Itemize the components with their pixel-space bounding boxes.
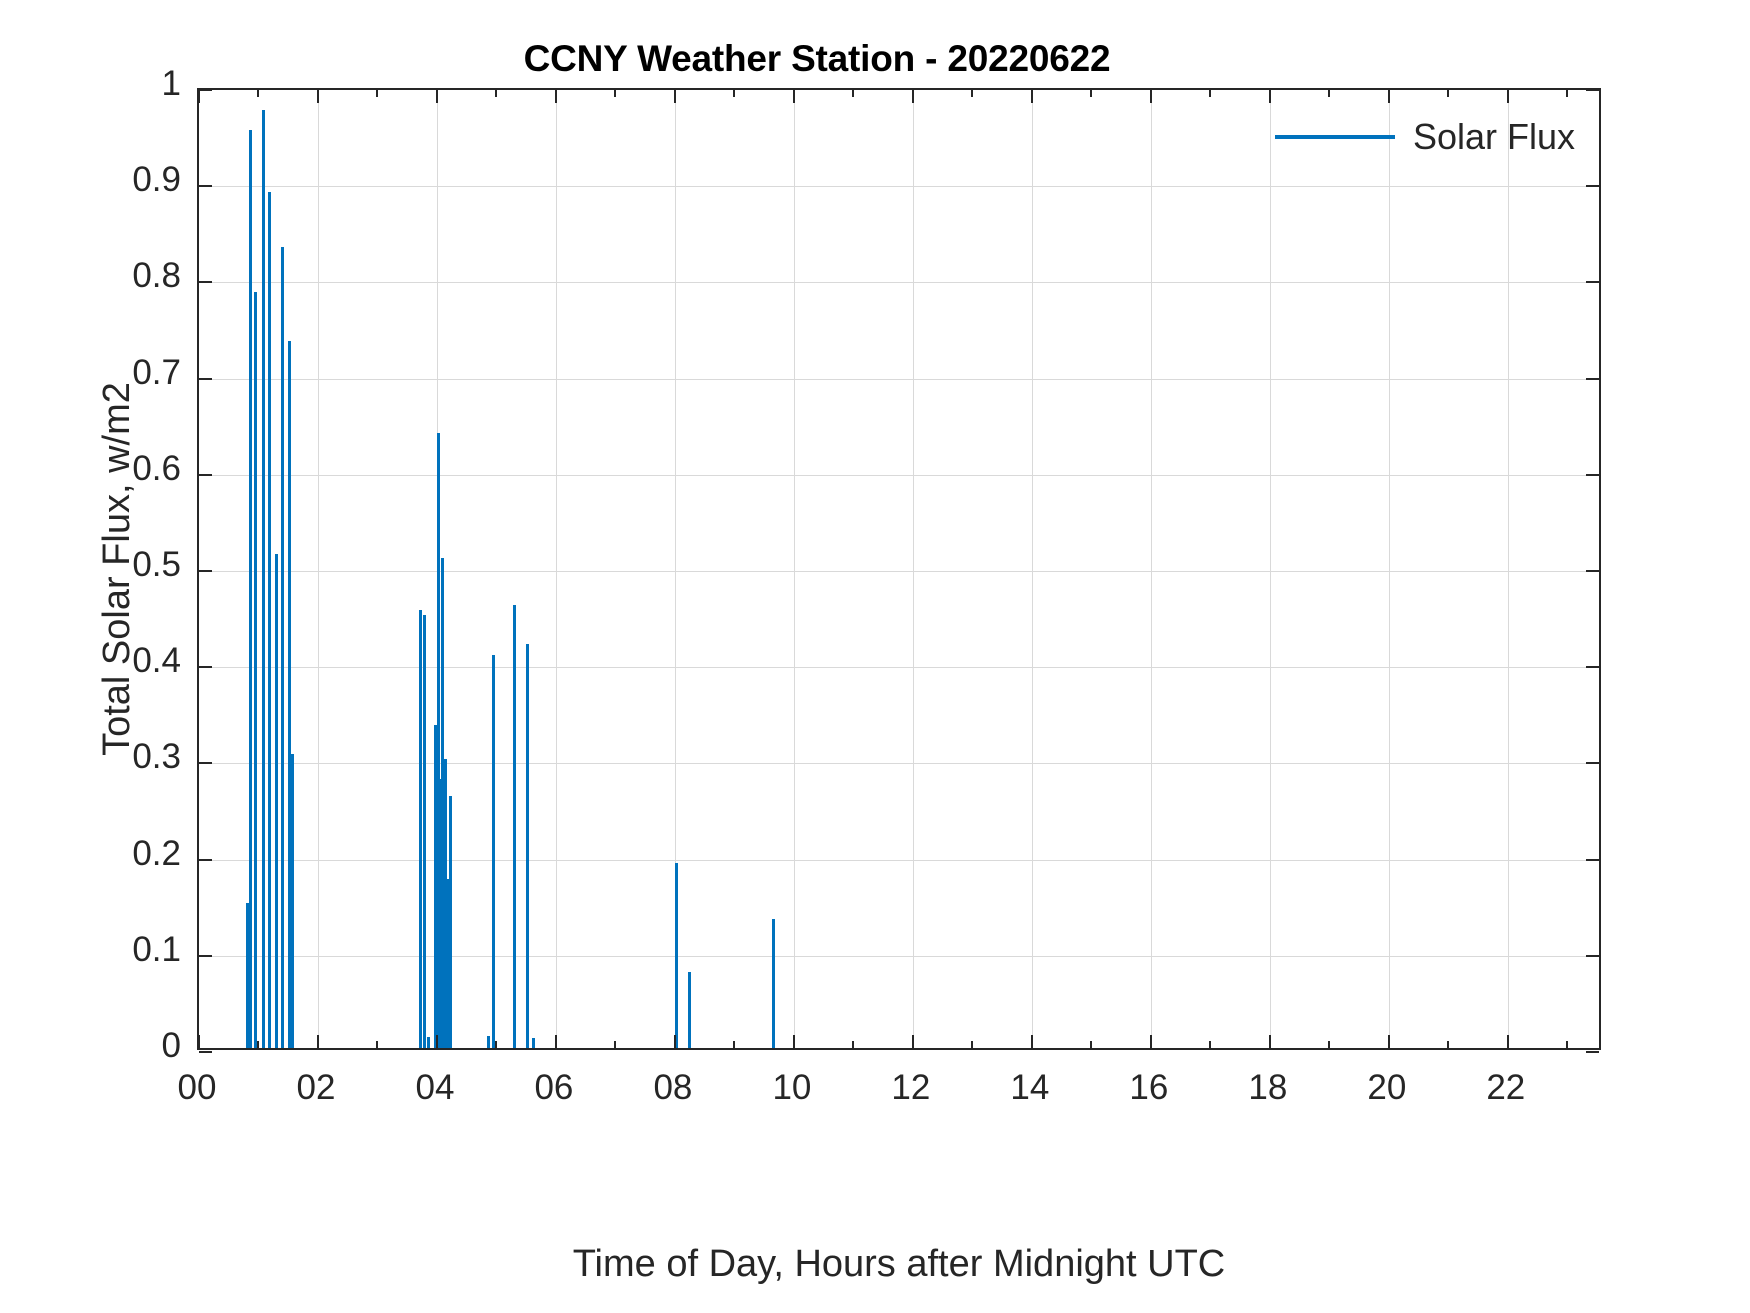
y-tick-mark-right [1586, 378, 1599, 380]
plot-axes: Solar Flux [197, 88, 1601, 1050]
plot-area [199, 90, 1599, 1048]
x-tick-minor [1566, 1041, 1568, 1048]
gridline-vertical [1151, 90, 1152, 1048]
chart-title-text: CCNY Weather Station - 20220622 [524, 38, 1111, 80]
x-tick-mark [1388, 1035, 1390, 1048]
data-spike [427, 1037, 430, 1048]
x-tick-minor-top [495, 90, 497, 97]
y-tick-mark-right [1586, 762, 1599, 764]
y-tick-label: 0.2 [132, 834, 181, 874]
chart-title: CCNY Weather Station - 20220622 [0, 38, 1750, 80]
x-tick-minor-top [1328, 90, 1330, 97]
x-tick-minor-top [1090, 90, 1092, 97]
x-tick-minor [495, 1041, 497, 1048]
legend-label-solar-flux: Solar Flux [1413, 116, 1575, 158]
data-spike [449, 796, 452, 1048]
x-tick-mark [317, 1035, 319, 1048]
x-tick-label: 06 [514, 1068, 594, 1108]
x-tick-mark-top [317, 90, 319, 103]
x-axis-label: Time of Day, Hours after Midnight UTC [197, 1243, 1601, 1286]
y-tick-mark [199, 1051, 212, 1053]
data-spike [492, 655, 495, 1048]
x-tick-minor-top [1566, 90, 1568, 97]
x-tick-mark [436, 1035, 438, 1048]
x-tick-minor-top [614, 90, 616, 97]
y-tick-label: 0.1 [132, 930, 181, 970]
x-tick-mark-top [793, 90, 795, 103]
y-tick-mark [199, 762, 212, 764]
x-tick-mark-top [674, 90, 676, 103]
data-spike [249, 130, 252, 1048]
y-tick-mark-right [1586, 89, 1599, 91]
x-tick-minor-top [257, 90, 259, 97]
x-tick-minor [376, 1041, 378, 1048]
x-tick-mark-top [436, 90, 438, 103]
data-spike [419, 610, 422, 1048]
x-tick-label: 00 [157, 1068, 237, 1108]
y-tick-mark [199, 281, 212, 283]
x-tick-mark-top [1507, 90, 1509, 103]
data-spike [275, 554, 278, 1048]
x-tick-mark-top [555, 90, 557, 103]
x-tick-minor [1328, 1041, 1330, 1048]
gridline-vertical [913, 90, 914, 1048]
gridline-vertical [556, 90, 557, 1048]
y-tick-label: 0.5 [132, 545, 181, 585]
y-tick-mark-right [1586, 666, 1599, 668]
gridline-vertical [1389, 90, 1390, 1048]
x-tick-mark-top [1269, 90, 1271, 103]
x-tick-minor-top [971, 90, 973, 97]
y-tick-mark [199, 666, 212, 668]
y-tick-mark [199, 89, 212, 91]
x-tick-minor-top [1447, 90, 1449, 97]
y-tick-label: 0.3 [132, 737, 181, 777]
data-spike [291, 754, 294, 1048]
legend-line-solar-flux [1275, 135, 1395, 139]
x-tick-minor [257, 1041, 259, 1048]
x-tick-mark-top [1150, 90, 1152, 103]
x-tick-label: 20 [1347, 1068, 1427, 1108]
x-tick-mark [1507, 1035, 1509, 1048]
gridline-vertical [794, 90, 795, 1048]
y-tick-mark-right [1586, 474, 1599, 476]
x-tick-label: 10 [752, 1068, 832, 1108]
x-tick-minor-top [1209, 90, 1211, 97]
gridline-vertical [1032, 90, 1033, 1048]
y-tick-mark [199, 859, 212, 861]
x-tick-label: 04 [395, 1068, 475, 1108]
x-tick-label: 16 [1109, 1068, 1189, 1108]
x-tick-label: 02 [276, 1068, 356, 1108]
y-tick-mark [199, 378, 212, 380]
x-tick-mark [793, 1035, 795, 1048]
y-tick-mark [199, 955, 212, 957]
x-tick-minor [971, 1041, 973, 1048]
x-tick-minor [1090, 1041, 1092, 1048]
gridline-vertical [318, 90, 319, 1048]
x-tick-label: 18 [1228, 1068, 1308, 1108]
y-tick-mark [199, 185, 212, 187]
data-spike [262, 110, 265, 1048]
data-spike [513, 605, 516, 1048]
x-tick-minor [733, 1041, 735, 1048]
y-tick-label: 0.4 [132, 641, 181, 681]
y-tick-label: 0 [162, 1026, 181, 1066]
x-tick-label: 12 [871, 1068, 951, 1108]
x-tick-minor [1447, 1041, 1449, 1048]
x-tick-minor [1209, 1041, 1211, 1048]
x-tick-mark [1269, 1035, 1271, 1048]
x-tick-mark [198, 1035, 200, 1048]
x-tick-label: 08 [633, 1068, 713, 1108]
y-tick-mark-right [1586, 281, 1599, 283]
y-tick-label: 1 [162, 64, 181, 104]
data-spike [526, 644, 529, 1048]
data-spike [487, 1036, 490, 1048]
y-tick-mark-right [1586, 185, 1599, 187]
x-tick-minor [614, 1041, 616, 1048]
data-spike [281, 247, 284, 1048]
gridline-vertical [1270, 90, 1271, 1048]
y-tick-mark-right [1586, 955, 1599, 957]
x-tick-minor-top [733, 90, 735, 97]
x-tick-mark [1150, 1035, 1152, 1048]
y-tick-mark-right [1586, 1051, 1599, 1053]
data-spike [688, 972, 691, 1048]
x-tick-mark-top [198, 90, 200, 103]
data-spike [675, 863, 678, 1048]
y-tick-mark [199, 474, 212, 476]
x-tick-minor-top [852, 90, 854, 97]
data-spike [254, 292, 257, 1048]
gridline-vertical [1508, 90, 1509, 1048]
x-tick-mark-top [912, 90, 914, 103]
x-tick-mark [1031, 1035, 1033, 1048]
x-tick-mark-top [1388, 90, 1390, 103]
y-tick-mark-right [1586, 859, 1599, 861]
data-spike [532, 1038, 535, 1048]
y-tick-label: 0.9 [132, 160, 181, 200]
legend[interactable]: Solar Flux [1271, 112, 1585, 162]
data-spike [423, 615, 426, 1048]
y-tick-label: 0.7 [132, 353, 181, 393]
figure-canvas: CCNY Weather Station - 20220622 Total So… [0, 0, 1750, 1313]
y-tick-mark-right [1586, 570, 1599, 572]
data-spike [268, 192, 271, 1048]
x-tick-mark [912, 1035, 914, 1048]
x-tick-mark [674, 1035, 676, 1048]
x-tick-label: 22 [1466, 1068, 1546, 1108]
x-tick-label: 14 [990, 1068, 1070, 1108]
data-spike [288, 341, 291, 1048]
x-tick-minor-top [376, 90, 378, 97]
y-tick-mark [199, 570, 212, 572]
x-tick-minor [852, 1041, 854, 1048]
y-tick-label: 0.6 [132, 449, 181, 489]
x-tick-mark-top [1031, 90, 1033, 103]
data-spike [772, 919, 775, 1048]
x-tick-mark [555, 1035, 557, 1048]
y-tick-label: 0.8 [132, 256, 181, 296]
